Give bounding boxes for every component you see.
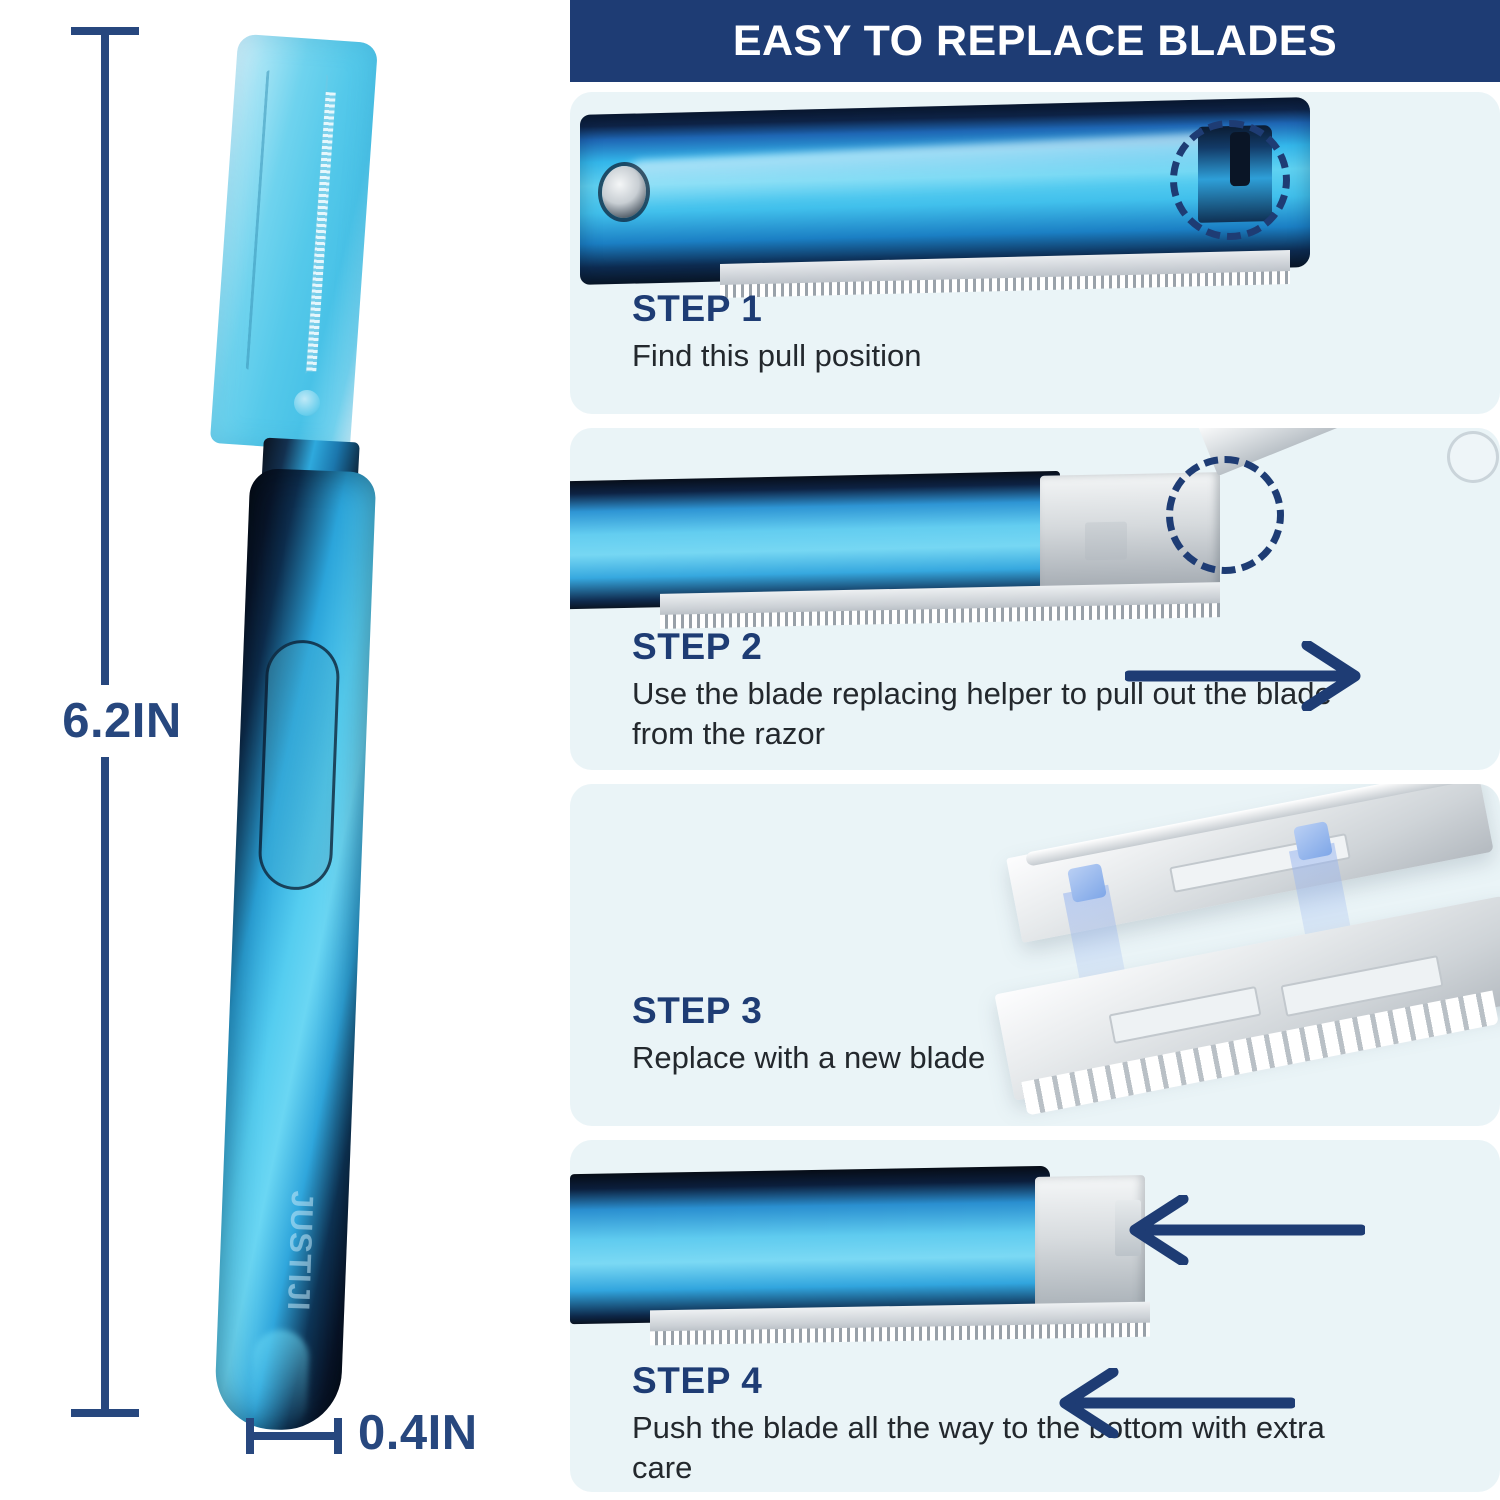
razor-head-gloss (620, 131, 1240, 209)
arrow-right-icon (1125, 641, 1375, 711)
width-dimension-label: 0.4IN (358, 1405, 478, 1461)
razor-handle-gloss (250, 1329, 310, 1431)
height-dimension-tick-bottom (71, 1409, 139, 1417)
height-dimension-label: 6.2IN (42, 685, 202, 757)
step-3-text-block: STEP 3 Replace with a new blade (632, 992, 985, 1078)
arrow-left-icon (1115, 1195, 1365, 1265)
blade-cartridge-slot (1085, 522, 1127, 561)
step-card-4: STEP 4 Push the blade all the way to the… (570, 1140, 1500, 1492)
step-card-2: STEP 2 Use the blade replacing helper to… (570, 428, 1500, 770)
highlight-circle-icon (1170, 120, 1290, 240)
helper-tool-hole (1443, 428, 1500, 487)
step-1-description: Find this pull position (632, 336, 922, 376)
step-card-1: STEP 1 Find this pull position (570, 92, 1500, 414)
step-card-3: STEP 3 Replace with a new blade (570, 784, 1500, 1126)
header-title: EASY TO REPLACE BLADES (733, 17, 1337, 66)
width-dimension-line (248, 1432, 340, 1440)
highlight-circle-icon (1166, 456, 1284, 574)
alignment-tab (1067, 863, 1107, 903)
product-infographic: JUSTIJI 6.2IN 0.4IN EASY TO REPLACE BLAD… (0, 0, 1500, 1500)
step-1-text-block: STEP 1 Find this pull position (632, 290, 922, 376)
alignment-tab (1293, 821, 1333, 861)
brand-logo: JUSTIJI (243, 1201, 356, 1301)
width-dimension-tick-right (334, 1418, 342, 1454)
product-dimensions-panel: JUSTIJI 6.2IN 0.4IN (0, 0, 555, 1500)
step-3-label: STEP 3 (632, 992, 985, 1031)
step-3-description: Replace with a new blade (632, 1038, 985, 1078)
razor-head-body (570, 1166, 1050, 1324)
razor-grip-inset (257, 639, 341, 892)
header-banner: EASY TO REPLACE BLADES (570, 0, 1500, 82)
step-1-label: STEP 1 (632, 290, 922, 329)
arrow-left-icon (1045, 1368, 1295, 1438)
replacement-steps-panel: EASY TO REPLACE BLADES STEP 1 Find this … (555, 0, 1500, 1500)
